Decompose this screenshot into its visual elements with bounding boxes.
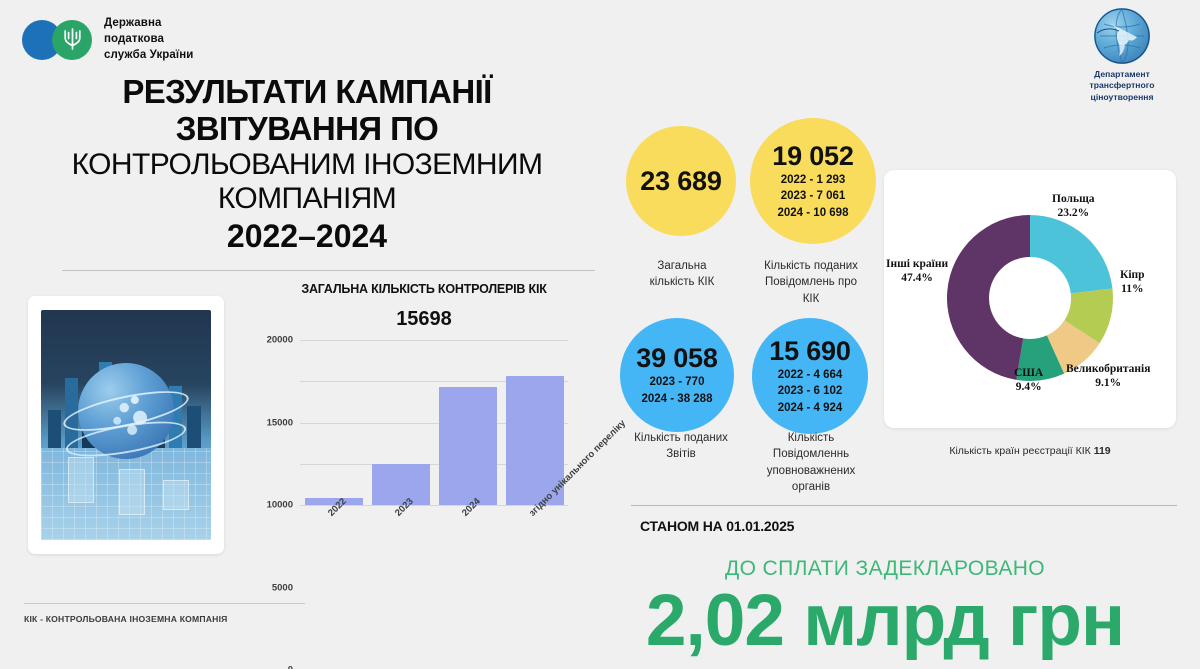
donut-label-name: США: [1014, 366, 1043, 380]
bar-chart-bar-slot: [367, 340, 434, 505]
kpi-breakdown: 2022 - 1 2932023 - 7 0612024 - 10 698: [778, 172, 849, 221]
declared-payable-label: ДО СПЛАТИ ЗАДЕКЛАРОВАНО: [570, 557, 1200, 581]
kpi-breakdown-line: 2024 - 38 288: [642, 391, 713, 407]
gov-logo-line-2: податкова: [104, 32, 193, 48]
globe-icon: [1094, 8, 1150, 64]
title-divider: [62, 270, 595, 271]
donut-chart-caption: Кількість країн реєстрації КІК 119: [884, 445, 1176, 457]
kpi-caption-line: Загальна: [612, 258, 752, 274]
globe-bar-chart-illustration: [41, 310, 211, 540]
kpi-breakdown-line: 2023 - 7 061: [778, 188, 849, 204]
kpi-caption-line: Кількість: [736, 430, 886, 446]
kpi-value: 19 052: [772, 141, 853, 172]
dept-logo-line-2: трансфертного: [1062, 80, 1182, 91]
kpi-caption-line: Кількість поданих: [736, 258, 886, 274]
gov-tax-service-logo: Державна податкова служба України: [22, 16, 193, 64]
kpi-caption-line: кількість КІК: [612, 274, 752, 290]
kpi-breakdown-line: 2024 - 10 698: [778, 205, 849, 221]
donut-slice[interactable]: [1030, 215, 1112, 293]
donut-label-1: Кіпр11%: [1120, 268, 1145, 297]
kpi-value: 39 058: [636, 343, 717, 374]
illustration-panel: [163, 480, 189, 510]
page-title-line-3: КОНТРОЛЬОВАНИМ ІНОЗЕМНИМ: [0, 148, 614, 182]
gov-logo-line-1: Державна: [104, 16, 193, 32]
kpi-circle-total-cfc[interactable]: 23 689: [626, 126, 736, 236]
donut-label-name: Польща: [1052, 192, 1095, 206]
kpi-caption-line: органів: [736, 479, 886, 495]
infographic-page: Державна податкова служба України Департ…: [0, 0, 1200, 669]
footnote: КІК - КОНТРОЛЬОВАНА ІНОЗЕМНА КОМПАНІЯ: [24, 614, 228, 624]
page-title-line-1: РЕЗУЛЬТАТИ КАМПАНІЇ: [0, 74, 614, 111]
bar-chart-y-tick: 20000: [267, 335, 293, 346]
dept-logo-line-3: ціноутворення: [1062, 92, 1182, 103]
kpi-caption: КількістьПовідомленньуповноважненихорган…: [736, 430, 886, 495]
donut-label-2: Великобританія9.1%: [1066, 362, 1150, 391]
kpi-caption: Кількість поданихПовідомлень проКІК: [736, 258, 886, 307]
bar-chart-plot: 05000100001500020000 202220232024згідно …: [300, 340, 568, 505]
kpi-caption-line: Звітів: [606, 446, 756, 462]
bar-chart-headline-value: 15698: [244, 308, 604, 331]
page-title-line-4: КОМПАНІЯМ: [0, 182, 614, 216]
donut-label-value: 9.1%: [1066, 376, 1150, 390]
bar-chart-y-tick: 10000: [267, 500, 293, 511]
donut-label-value: 23.2%: [1052, 206, 1095, 220]
kpi-value: 15 690: [769, 336, 850, 367]
kpi-circle-submitted-reports[interactable]: 39 0582023 - 7702024 - 38 288: [620, 318, 734, 432]
kpi-caption-line: Кількість поданих: [606, 430, 756, 446]
as-of-divider: [631, 505, 1177, 506]
donut-caption-value: 119: [1094, 445, 1111, 457]
donut-label-3: США9.4%: [1014, 366, 1043, 395]
kpi-breakdown-line: 2024 - 4 924: [778, 400, 843, 416]
department-logo-text: Департамент трансфертного ціноутворення: [1062, 69, 1182, 103]
kpi-circle-authority-notifications[interactable]: 15 6902022 - 4 6642023 - 6 1022024 - 4 9…: [752, 318, 868, 434]
illustration-panel: [119, 469, 145, 515]
illustration-panel: [68, 457, 94, 503]
kpi-breakdown-line: 2022 - 4 664: [778, 367, 843, 383]
bar-chart-bar-slot: [300, 340, 367, 505]
kpi-breakdown-line: 2023 - 770: [642, 374, 713, 390]
kpi-breakdown: 2023 - 7702024 - 38 288: [642, 374, 713, 407]
kpi-circle-submitted-notifications-cfc[interactable]: 19 0522022 - 1 2932023 - 7 0612024 - 10 …: [750, 118, 876, 244]
donut-label-name: Інші країни: [886, 257, 948, 271]
kpi-caption-line: КІК: [736, 291, 886, 307]
page-title-period: 2022–2024: [0, 216, 614, 258]
kpi-value: 23 689: [640, 166, 721, 197]
donut-label-name: Великобританія: [1066, 362, 1150, 376]
donut-label-value: 9.4%: [1014, 380, 1043, 394]
donut-label-name: Кіпр: [1120, 268, 1145, 282]
bar-chart-bar[interactable]: [372, 464, 430, 505]
kpi-breakdown: 2022 - 4 6642023 - 6 1022024 - 4 924: [778, 367, 843, 416]
gov-logo-line-3: служба України: [104, 48, 193, 64]
kpi-caption-line: Повідомленнь: [736, 446, 886, 462]
kpi-caption: Загальнакількість КІК: [612, 258, 752, 291]
donut-label-4: Інші країни47.4%: [886, 257, 948, 286]
page-title-line-2: ЗВІТУВАННЯ ПО: [0, 111, 614, 148]
bar-chart-bar-slot: [434, 340, 501, 505]
gov-logo-text: Державна податкова служба України: [104, 16, 193, 64]
dept-logo-line-1: Департамент: [1062, 69, 1182, 80]
page-title: РЕЗУЛЬТАТИ КАМПАНІЇ ЗВІТУВАННЯ ПО КОНТРО…: [0, 74, 614, 257]
as-of-date: СТАНОМ НА 01.01.2025: [640, 518, 794, 534]
kpi-caption-line: уповноважнених: [736, 463, 886, 479]
footnote-divider: [24, 603, 305, 604]
bar-chart-y-tick: 0: [288, 665, 293, 669]
bar-chart-title: ЗАГАЛЬНА КІЛЬКІСТЬ КОНТРОЛЕРІВ КІК: [244, 282, 604, 296]
illustration-card: [28, 296, 224, 554]
bar-chart-y-tick: 5000: [272, 582, 293, 593]
bar-chart: ЗАГАЛЬНА КІЛЬКІСТЬ КОНТРОЛЕРІВ КІК 15698…: [244, 282, 604, 582]
donut-slice[interactable]: [947, 215, 1030, 380]
kpi-breakdown-line: 2022 - 1 293: [778, 172, 849, 188]
logo-green-trident-icon: [52, 20, 92, 60]
kpi-caption: Кількість поданихЗвітів: [606, 430, 756, 463]
kpi-caption-line: Повідомлень про: [736, 274, 886, 290]
bar-chart-y-tick: 15000: [267, 417, 293, 428]
kpi-breakdown-line: 2023 - 6 102: [778, 383, 843, 399]
bar-chart-bar[interactable]: [439, 387, 497, 505]
declared-payable-amount: 2,02 млрд грн: [570, 583, 1200, 659]
donut-label-value: 47.4%: [886, 271, 948, 285]
department-logo: Департамент трансфертного ціноутворення: [1062, 8, 1182, 103]
donut-caption-text: Кількість країн реєстрації КІК: [949, 445, 1093, 457]
donut-label-value: 11%: [1120, 282, 1145, 296]
donut-label-0: Польща23.2%: [1052, 192, 1095, 221]
